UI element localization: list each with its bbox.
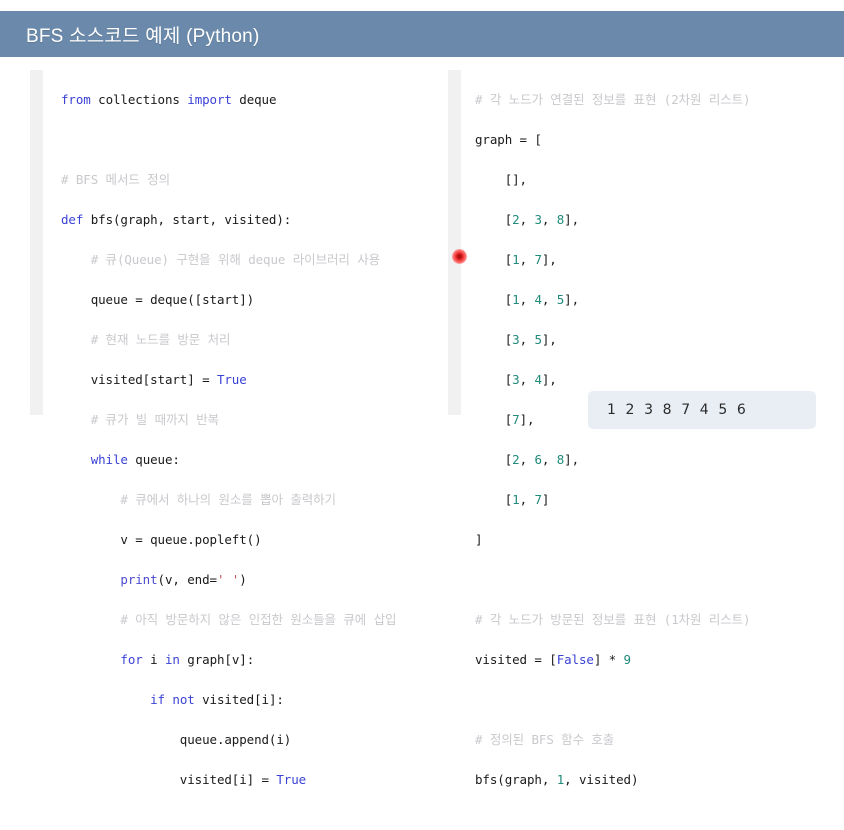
code-line: [2, 6, 8], bbox=[475, 450, 750, 470]
code-line: v = queue.popleft() bbox=[61, 530, 396, 550]
code-line: [2, 3, 8], bbox=[475, 210, 750, 230]
code-line: if not visited[i]: bbox=[61, 690, 396, 710]
code-panel-right: # 각 노드가 연결된 정보를 표현 (2차원 리스트) graph = [ [… bbox=[448, 70, 840, 830]
program-output-box: 1 2 3 8 7 4 5 6 bbox=[588, 391, 816, 429]
code-line: def bfs(graph, start, visited): bbox=[61, 210, 396, 230]
code-line-comment: # 큐(Queue) 구현을 위해 deque 라이브러리 사용 bbox=[61, 250, 396, 270]
code-line: [1, 7] bbox=[475, 490, 750, 510]
code-line: ] bbox=[475, 530, 750, 550]
code-gutter-left bbox=[30, 70, 43, 415]
code-line: visited = [False] * 9 bbox=[475, 650, 750, 670]
code-line: graph = [ bbox=[475, 130, 750, 150]
code-line: [1, 7], bbox=[475, 250, 750, 270]
code-block-graph-data: # 각 노드가 연결된 정보를 표현 (2차원 리스트) graph = [ [… bbox=[461, 70, 750, 830]
code-line: bfs(graph, 1, visited) bbox=[475, 770, 750, 790]
code-block-bfs-function: from collections import deque # BFS 메서드 … bbox=[43, 70, 396, 830]
code-line: [3, 4], bbox=[475, 370, 750, 390]
code-line: from collections import deque bbox=[61, 90, 396, 110]
code-gutter-right bbox=[448, 70, 461, 415]
code-panel-left: from collections import deque # BFS 메서드 … bbox=[30, 70, 430, 830]
code-line-blank bbox=[61, 130, 396, 150]
code-line: while queue: bbox=[61, 450, 396, 470]
code-line: visited[i] = True bbox=[61, 770, 396, 790]
code-line: for i in graph[v]: bbox=[61, 650, 396, 670]
code-line: [1, 4, 5], bbox=[475, 290, 750, 310]
program-output-text: 1 2 3 8 7 4 5 6 bbox=[588, 402, 748, 418]
code-line: queue = deque([start]) bbox=[61, 290, 396, 310]
code-line: print(v, end=' ') bbox=[61, 570, 396, 590]
code-line: [3, 5], bbox=[475, 330, 750, 350]
slide-title-bar: BFS 소스코드 예제 (Python) bbox=[0, 11, 844, 57]
code-line-comment: # 현재 노드를 방문 처리 bbox=[61, 330, 396, 350]
code-line-comment: # 정의된 BFS 함수 호출 bbox=[475, 730, 750, 750]
code-line-comment: # 각 노드가 연결된 정보를 표현 (2차원 리스트) bbox=[475, 90, 750, 110]
code-line-comment: # 큐가 빌 때까지 반복 bbox=[61, 410, 396, 430]
code-line-comment: # 각 노드가 방문된 정보를 표현 (1차원 리스트) bbox=[475, 610, 750, 630]
code-line: visited[start] = True bbox=[61, 370, 396, 390]
code-line: [], bbox=[475, 170, 750, 190]
code-line-blank bbox=[475, 690, 750, 710]
code-line-blank bbox=[475, 570, 750, 590]
code-line-comment: # 아직 방문하지 않은 인접한 원소들을 큐에 삽입 bbox=[61, 610, 396, 630]
click-marker-icon bbox=[452, 249, 467, 264]
code-line-comment: # 큐에서 하나의 원소를 뽑아 출력하기 bbox=[61, 490, 396, 510]
page-title: BFS 소스코드 예제 (Python) bbox=[0, 21, 259, 48]
code-line: queue.append(i) bbox=[61, 730, 396, 750]
code-line-comment: # BFS 메서드 정의 bbox=[61, 170, 396, 190]
